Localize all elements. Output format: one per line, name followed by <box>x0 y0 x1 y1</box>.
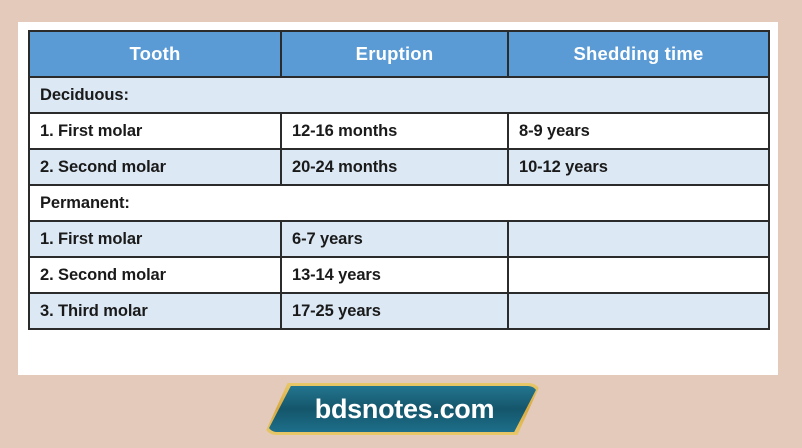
cell-tooth: 2. Second molar <box>29 257 281 293</box>
column-header-eruption: Eruption <box>281 31 508 77</box>
cell-shedding-time: 10-12 years <box>508 149 769 185</box>
content-panel: Tooth Eruption Shedding time Deciduous:1… <box>18 22 778 375</box>
cell-shedding-time <box>508 293 769 329</box>
cell-shedding-time: 8-9 years <box>508 113 769 149</box>
cell-eruption: 13-14 years <box>281 257 508 293</box>
cell-tooth: 2. Second molar <box>29 149 281 185</box>
table-body: Deciduous:1. First molar12-16 months8-9 … <box>29 77 769 329</box>
table-row: 1. First molar12-16 months8-9 years <box>29 113 769 149</box>
logo-text: bdsnotes.com <box>264 383 541 435</box>
table-header-row: Tooth Eruption Shedding time <box>29 31 769 77</box>
cell-eruption: 20-24 months <box>281 149 508 185</box>
section-label: Deciduous: <box>29 77 769 113</box>
column-header-shedding-time: Shedding time <box>508 31 769 77</box>
cell-shedding-time <box>508 221 769 257</box>
cell-eruption: 6-7 years <box>281 221 508 257</box>
cell-tooth: 3. Third molar <box>29 293 281 329</box>
table-row: 1. First molar6-7 years <box>29 221 769 257</box>
section-label: Permanent: <box>29 185 769 221</box>
column-header-tooth: Tooth <box>29 31 281 77</box>
cell-eruption: 17-25 years <box>281 293 508 329</box>
cell-eruption: 12-16 months <box>281 113 508 149</box>
table-section-row: Permanent: <box>29 185 769 221</box>
cell-tooth: 1. First molar <box>29 113 281 149</box>
table-row: 3. Third molar17-25 years <box>29 293 769 329</box>
tooth-eruption-table: Tooth Eruption Shedding time Deciduous:1… <box>28 30 770 330</box>
table-row: 2. Second molar13-14 years <box>29 257 769 293</box>
cell-shedding-time <box>508 257 769 293</box>
table-section-row: Deciduous: <box>29 77 769 113</box>
table-header: Tooth Eruption Shedding time <box>29 31 769 77</box>
table-row: 2. Second molar20-24 months10-12 years <box>29 149 769 185</box>
site-logo[interactable]: bdsnotes.com <box>264 383 541 435</box>
cell-tooth: 1. First molar <box>29 221 281 257</box>
